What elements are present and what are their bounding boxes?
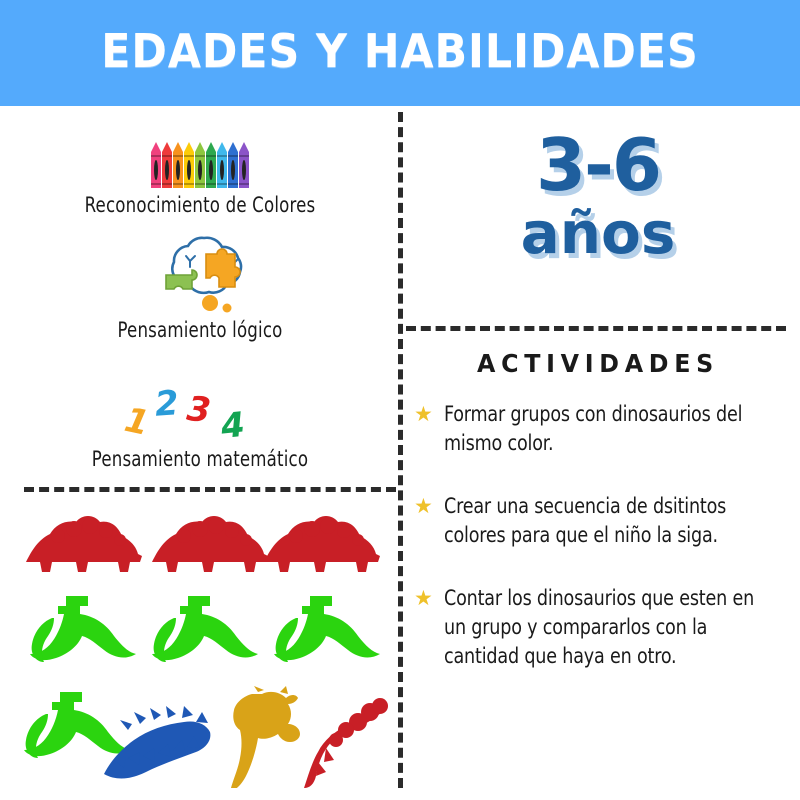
skill-color-recognition: Reconocimiento de Colores <box>10 134 390 217</box>
star-icon: ★ <box>414 492 438 517</box>
star-icon: ★ <box>414 400 438 425</box>
dinosaur-photo-group <box>14 500 394 788</box>
vertical-divider <box>398 112 403 788</box>
list-item: ★ Formar grupos con dinosaurios del mism… <box>414 400 792 458</box>
skill-label-colors: Reconocimiento de Colores <box>33 193 367 217</box>
activity-text: Formar grupos con dinosaurios del mismo … <box>444 400 768 458</box>
number-1: 1 <box>121 400 152 444</box>
number-2: 2 <box>154 383 180 425</box>
skill-logical-thinking: Pensamiento lógico <box>10 232 390 342</box>
skill-label-logic: Pensamiento lógico <box>33 318 367 342</box>
star-icon: ★ <box>414 584 438 609</box>
right-horizontal-divider <box>406 326 786 331</box>
age-unit: años <box>406 202 790 264</box>
number-3: 3 <box>185 389 213 431</box>
crayons-icon <box>151 134 249 188</box>
infographic-page: EDADES Y HABILIDADES Reconocimiento de C… <box>0 0 800 800</box>
dinosaur-row-2 <box>14 588 394 672</box>
thought-bubble-puzzle-icon <box>10 232 390 318</box>
list-item: ★ Contar los dinosaurios que esten en un… <box>414 584 792 671</box>
dinosaur-row-1 <box>14 504 394 588</box>
page-title: EDADES Y HABILIDADES <box>28 22 772 80</box>
age-range: 3-6 <box>406 128 790 202</box>
number-4: 4 <box>219 405 247 447</box>
activity-text: Contar los dinosaurios que esten en un g… <box>444 584 768 671</box>
age-block: 3-6 años <box>406 128 790 264</box>
numbers-1234-icon: 1 2 3 4 <box>125 378 275 440</box>
activities-heading: ACTIVIDADES <box>416 349 781 378</box>
activity-text: Crear una secuencia de dsitintos colores… <box>444 492 768 550</box>
activities-list: ★ Formar grupos con dinosaurios del mism… <box>414 400 792 705</box>
left-horizontal-divider <box>24 487 396 492</box>
dinosaur-row-3 <box>14 682 394 788</box>
skill-math-thinking: 1 2 3 4 Pensamiento matemático <box>10 378 390 471</box>
skill-label-math: Pensamiento matemático <box>33 447 367 471</box>
list-item: ★ Crear una secuencia de dsitintos color… <box>414 492 792 550</box>
